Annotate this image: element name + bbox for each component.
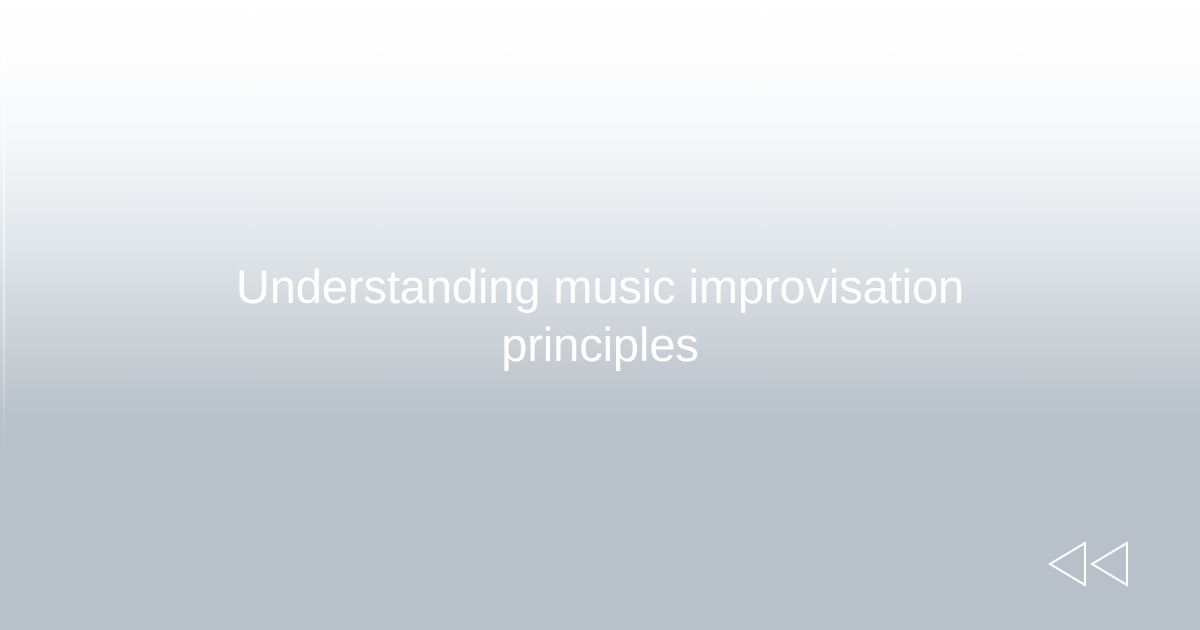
title-container: Understanding music improvisation princi… — [0, 258, 1200, 374]
rewind-icon[interactable] — [1046, 540, 1132, 588]
rewind-triangle-second — [1092, 543, 1127, 585]
og-card: Understanding music improvisation princi… — [0, 0, 1200, 630]
page-title: Understanding music improvisation princi… — [160, 258, 1040, 374]
rewind-triangle-first — [1050, 543, 1085, 585]
